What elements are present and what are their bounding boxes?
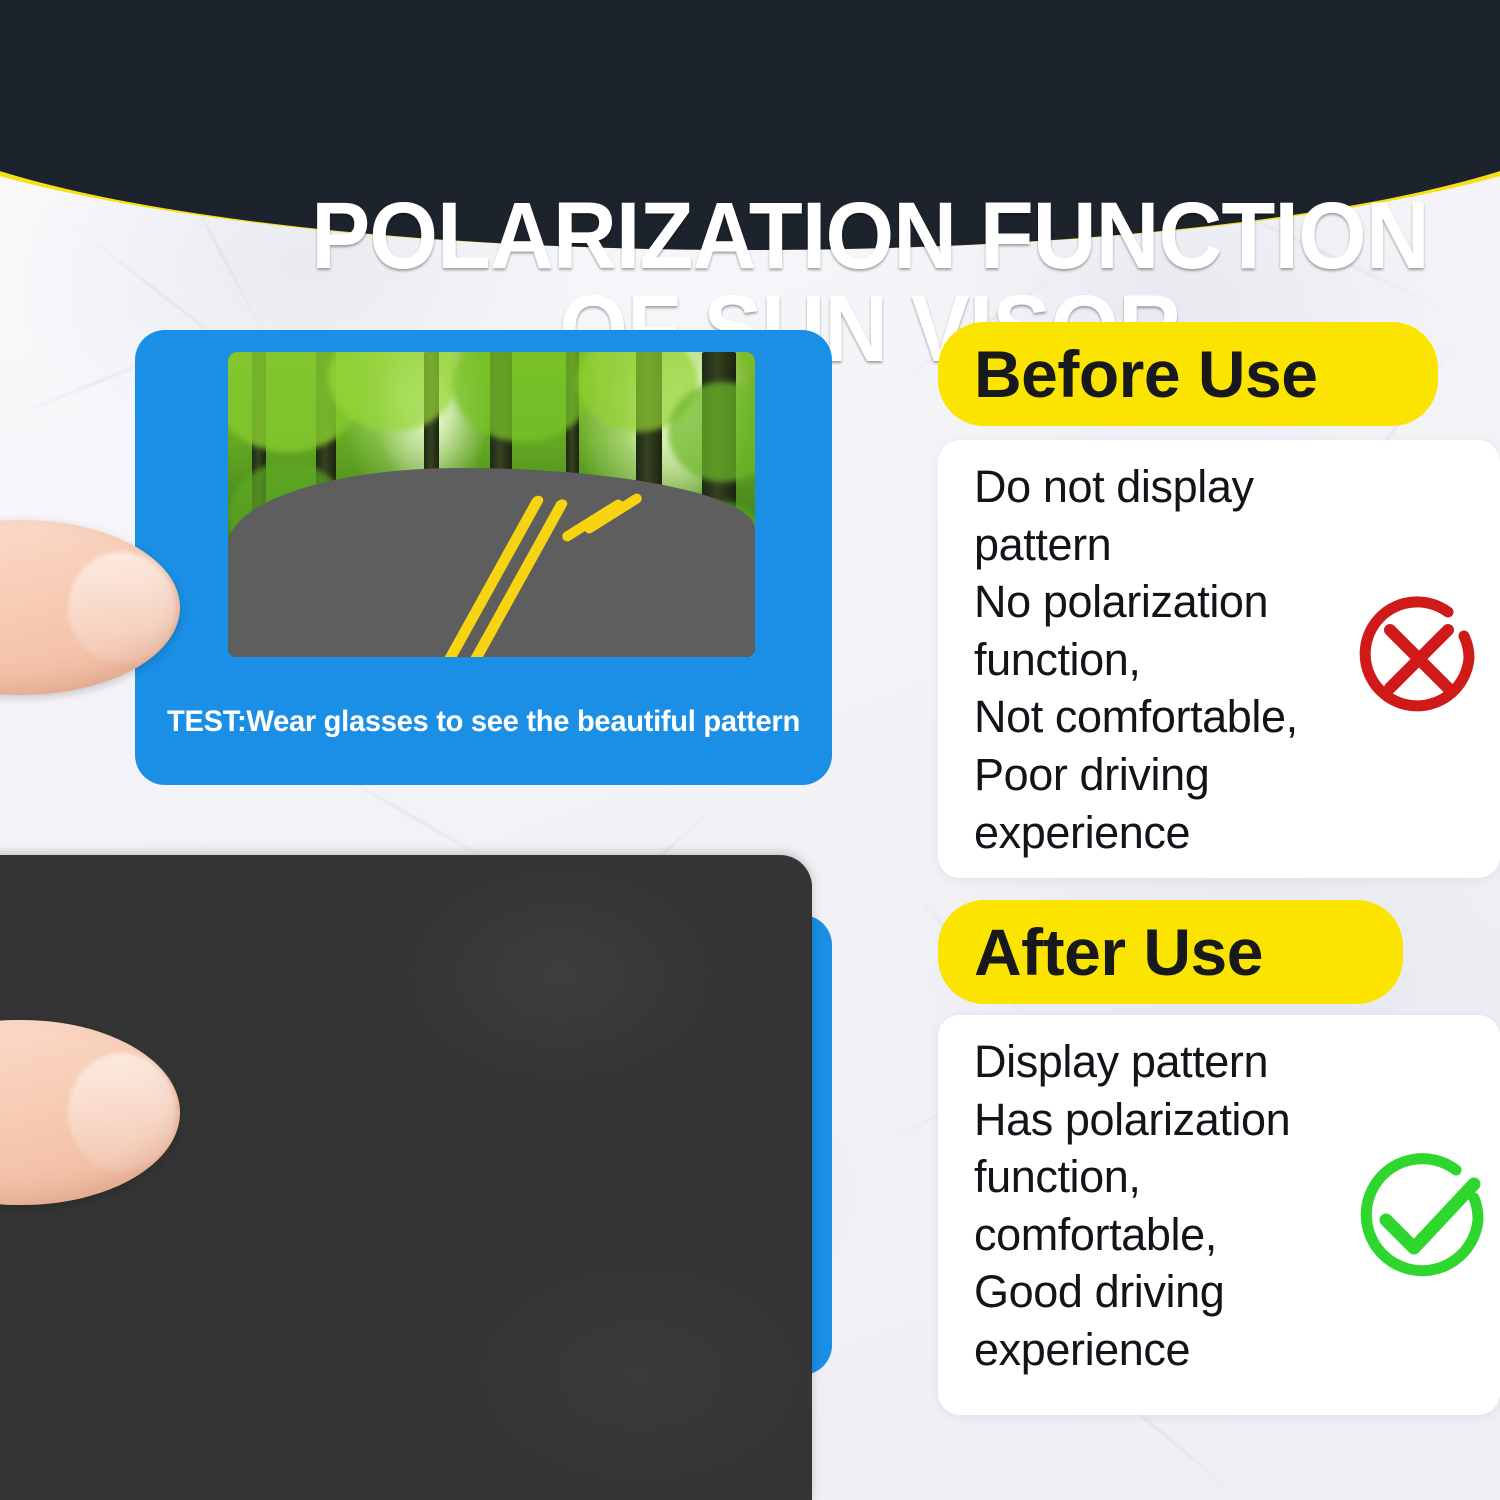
page-title-line1: POLARIZATION FUNCTION xyxy=(311,183,1428,289)
info-line: No polarization xyxy=(974,573,1404,631)
info-line: Display pattern xyxy=(974,1033,1404,1091)
after-use-info-text: Display pattern Has polarization functio… xyxy=(974,1033,1404,1379)
info-line: comfortable, xyxy=(974,1206,1404,1264)
before-use-caption: TEST:Wear glasses to see the beautiful p… xyxy=(145,705,821,739)
info-line: Do not display xyxy=(974,458,1404,516)
info-line: pattern xyxy=(974,516,1404,574)
before-use-info-text: Do not display pattern No polarization f… xyxy=(974,458,1404,861)
info-line: experience xyxy=(974,1321,1404,1379)
info-line: function, xyxy=(974,1148,1404,1206)
before-use-label-pill: Before Use xyxy=(938,322,1438,426)
cross-circle-icon xyxy=(1352,592,1484,724)
before-use-label: Before Use xyxy=(974,336,1317,412)
after-use-label-pill: After Use xyxy=(938,900,1403,1004)
after-use-label: After Use xyxy=(974,914,1263,990)
info-line: Has polarization xyxy=(974,1091,1404,1149)
info-line: function, xyxy=(974,631,1404,689)
info-line: Poor driving xyxy=(974,746,1404,804)
infographic-stage: POLARIZATION FUNCTION OF SUN VISOR xyxy=(0,0,1500,1500)
before-use-photo-card: TEST:Wear glasses to see the beautiful p… xyxy=(135,330,832,785)
info-line: experience xyxy=(974,804,1404,862)
before-use-photo xyxy=(228,352,755,657)
check-circle-icon xyxy=(1348,1148,1494,1294)
info-line: Good driving xyxy=(974,1263,1404,1321)
info-line: Not comfortable, xyxy=(974,688,1404,746)
